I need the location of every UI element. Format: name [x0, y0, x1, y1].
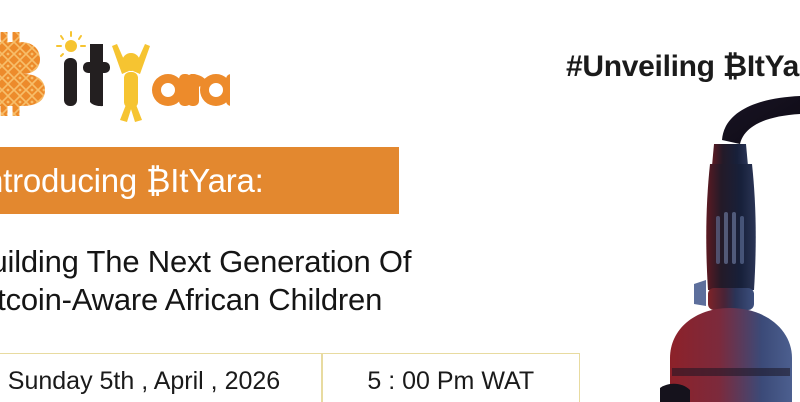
logo-letters-it [64, 44, 110, 106]
mic-collar [708, 288, 754, 310]
person-y-icon [112, 44, 150, 122]
mic-head [706, 164, 755, 290]
bityara-logo [0, 24, 230, 124]
intro-banner-text: Introducing ₿ItYara: [0, 162, 264, 200]
mic-clip [694, 280, 706, 306]
event-time: 5 : 00 Pm WAT [323, 354, 580, 402]
promo-banner-root: #Unveiling ₿ItYara Introducing ₿ItYara: … [0, 0, 800, 402]
sun-icon [57, 32, 85, 56]
headline-line-1: Building The Next Generation Of [0, 243, 590, 281]
mic-base [670, 308, 792, 402]
mic-cable [722, 96, 800, 144]
intro-banner: Introducing ₿ItYara: [0, 147, 399, 214]
mic-neck [712, 144, 748, 166]
bitcoin-b-icon [0, 32, 45, 116]
hashtag-text: #Unveiling ₿ItYara [566, 45, 800, 89]
headline: Building The Next Generation Of Bitcoin-… [0, 243, 590, 319]
microphone-image [660, 92, 800, 402]
event-date: Sunday 5th , April , 2026 [0, 354, 321, 402]
headline-line-2: Bitcoin-Aware African Children [0, 281, 590, 319]
logo-letters-ara [152, 74, 230, 106]
event-datetime-box: Sunday 5th , April , 2026 5 : 00 Pm WAT [0, 353, 580, 402]
bityara-logo-mark [0, 24, 230, 124]
microphone-icon [660, 92, 800, 402]
mic-base-band [672, 368, 790, 376]
